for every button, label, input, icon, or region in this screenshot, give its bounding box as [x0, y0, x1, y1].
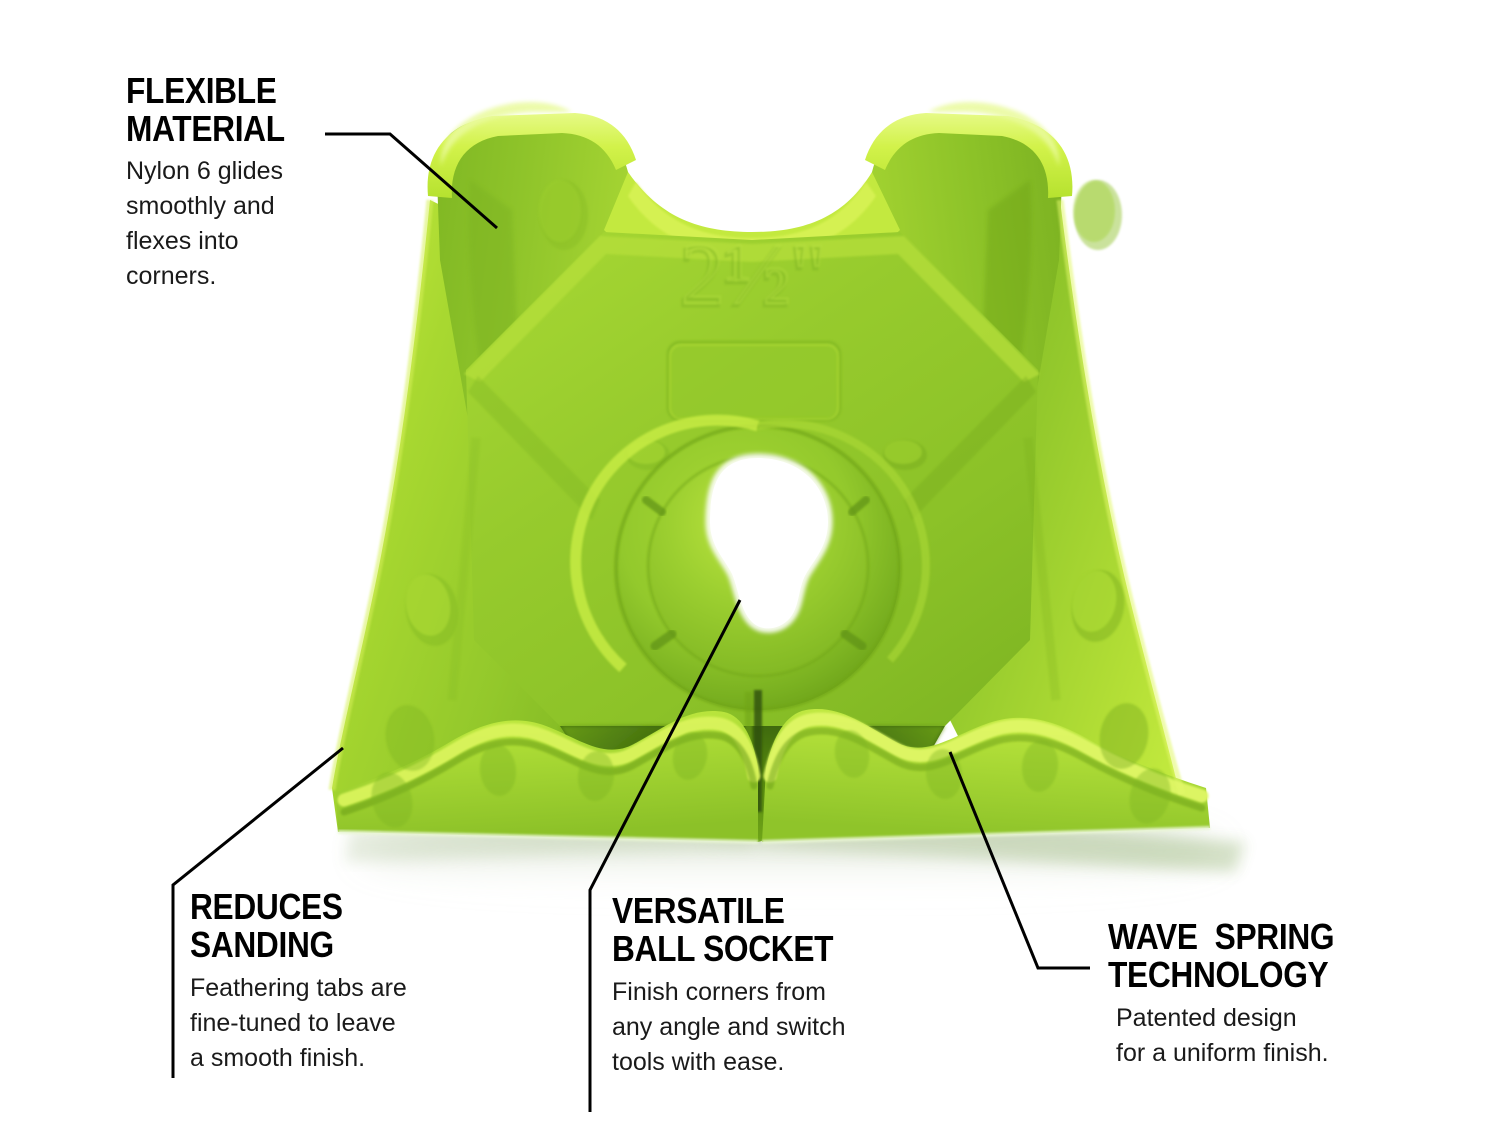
- wave-spring-right: [762, 709, 1210, 842]
- embossed-size-label: 2½" 2½": [679, 226, 827, 326]
- ground-shadow: [345, 806, 1245, 892]
- callout-versatile-ball-socket-body: Finish corners from any angle and switch…: [612, 975, 912, 1080]
- callout-reduces-sanding-body: Feathering tabs are fine-tuned to leave …: [190, 971, 460, 1076]
- center-notch: [604, 172, 900, 282]
- callout-reduces-sanding: REDUCES SANDING Feathering tabs are fine…: [190, 888, 460, 1076]
- callout-flexible-material-title: FLEXIBLE MATERIAL: [126, 72, 346, 148]
- edge-sheen: [332, 200, 1182, 794]
- callout-wave-spring-technology-body: Patented design for a uniform finish.: [1108, 1001, 1398, 1071]
- socket-aperture: [710, 458, 828, 628]
- callout-flexible-material: FLEXIBLE MATERIAL Nylon 6 glides smoothl…: [126, 72, 376, 294]
- face-dimples: [626, 440, 927, 470]
- left-wing: [332, 200, 600, 832]
- wave-spring-left: [336, 711, 758, 842]
- right-wing: [940, 200, 1210, 828]
- callout-wave-spring-technology-title: WAVE SPRING TECHNOLOGY: [1108, 918, 1363, 994]
- svg-text:2½": 2½": [679, 229, 825, 326]
- callout-versatile-ball-socket-title: VERSATILE BALL SOCKET: [612, 892, 876, 968]
- svg-text:2½": 2½": [681, 226, 827, 323]
- ball-socket: [576, 420, 926, 710]
- left-ear: [428, 102, 640, 430]
- callout-reduces-sanding-title: REDUCES SANDING: [190, 888, 428, 964]
- callout-wave-spring-technology: WAVE SPRING TECHNOLOGY Patented design f…: [1108, 918, 1398, 1071]
- infographic-canvas: 2½" 2½": [0, 0, 1500, 1124]
- center-face: 2½" 2½": [464, 226, 1040, 726]
- callout-versatile-ball-socket: VERSATILE BALL SOCKET Finish corners fro…: [612, 892, 912, 1080]
- callout-flexible-material-body: Nylon 6 glides smoothly and flexes into …: [126, 154, 376, 294]
- wing-details: [381, 438, 1154, 775]
- socket-slots: [646, 500, 866, 690]
- leader-wave-spring: [950, 752, 1090, 968]
- inner-recess: [560, 690, 945, 842]
- recessed-label-plate: [668, 342, 840, 420]
- right-ear: [860, 102, 1122, 430]
